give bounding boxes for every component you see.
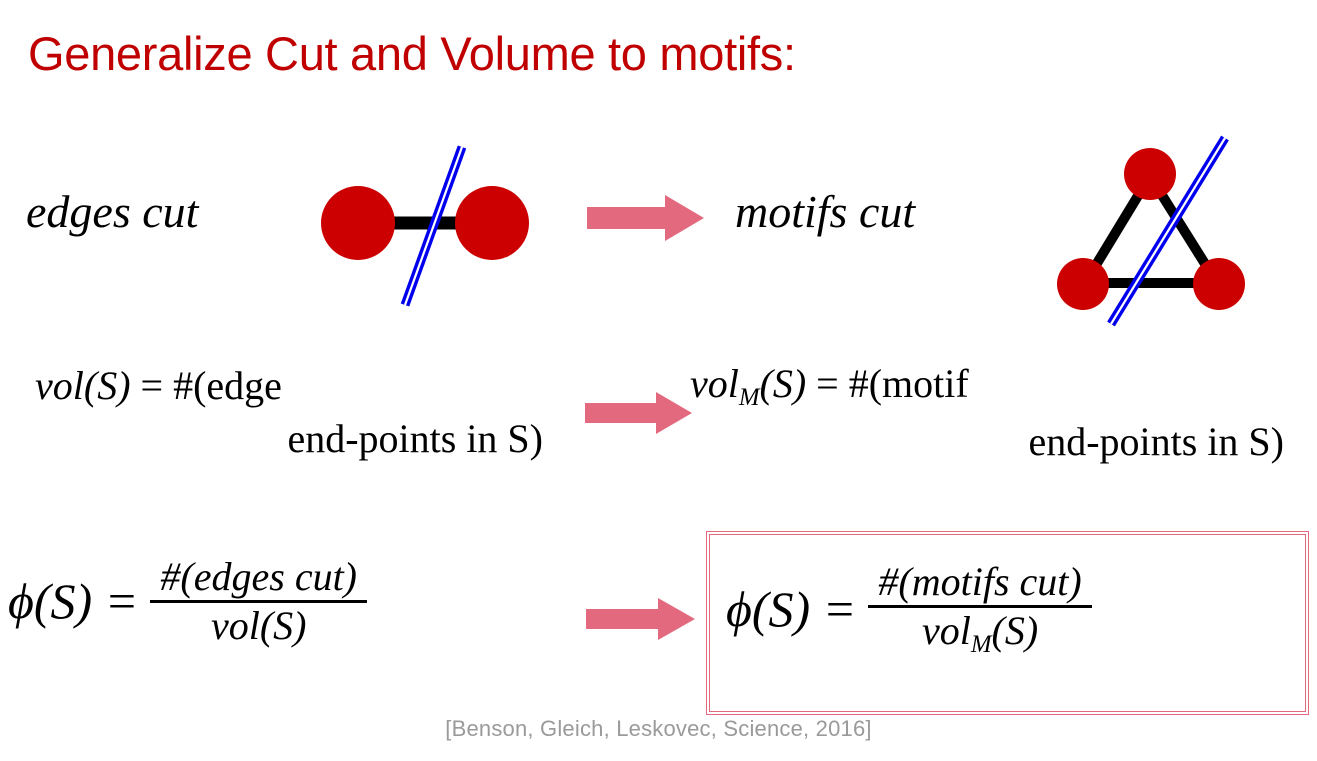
transform-arrow-row3 [586,598,696,645]
phi-left-numerator: #(edges cut) [150,556,367,600]
conductance-formula-left: ϕ(S) = #(edges cut) vol(S) [8,556,367,646]
vol-rhs-line1: #(edge [173,363,282,408]
node-right [455,186,529,260]
vol-definition-right: volM(S) = #(motif end-points in S) [690,360,1290,465]
phi-right-numerator: #(motifs cut) [868,561,1091,605]
node-top [1124,148,1176,200]
node-left [321,186,395,260]
transform-arrow-row1 [587,195,705,246]
vol-left-line1: vol(S) = #(edge [35,362,555,409]
node-bottom-left [1057,258,1109,310]
phi-right-den-tail: (S) [992,608,1039,653]
phi-left-denominator: vol(S) [201,603,317,647]
triangle-cut-svg [1045,128,1295,338]
edges-cut-label: edges cut [26,185,198,238]
vol-rhs-line2: end-points in S) [35,415,555,462]
motifs-cut-label: motifs cut [735,185,915,238]
volm-eq: = [806,361,849,406]
phi-right-den-subscript: M [971,631,992,658]
volm-rhs-line2: end-points in S) [690,418,1290,465]
phi-right-den-main: vol [922,608,971,653]
right-arrow-icon [587,195,705,241]
motif-conductance-highlight-box: ϕ(S) = #(motifs cut) volM(S) [706,531,1309,715]
citation-text: [Benson, Gleich, Leskovec, Science, 2016… [0,716,1317,742]
volm-lhs-tail: (S) [760,361,807,406]
transform-arrow-row2 [585,392,693,439]
volm-right-line1: volM(S) = #(motif [690,360,1290,412]
phi-left-lhs: ϕ(S) = [8,576,138,626]
node-bottom-right [1193,258,1245,310]
page-title: Generalize Cut and Volume to motifs: [28,26,796,81]
right-arrow-icon [585,392,693,434]
volm-subscript: M [739,384,760,411]
edge-cut-svg [310,145,530,335]
phi-right-fraction: #(motifs cut) volM(S) [868,561,1091,658]
volm-rhs-line1: #(motif [849,361,969,406]
triangle-motif-figure [1045,128,1295,343]
phi-left-fraction: #(edges cut) vol(S) [150,556,367,646]
phi-right-lhs: ϕ(S) = [726,584,856,634]
volm-lhs: vol [690,361,739,406]
vol-definition-left: vol(S) = #(edge end-points in S) [35,362,555,462]
vol-eq: = [131,363,174,408]
conductance-formula-right: ϕ(S) = #(motifs cut) volM(S) [726,561,1092,658]
two-node-edge-figure [310,145,530,340]
right-arrow-icon [586,598,696,640]
vol-lhs: vol(S) [35,363,131,408]
phi-right-denominator: volM(S) [912,608,1048,658]
